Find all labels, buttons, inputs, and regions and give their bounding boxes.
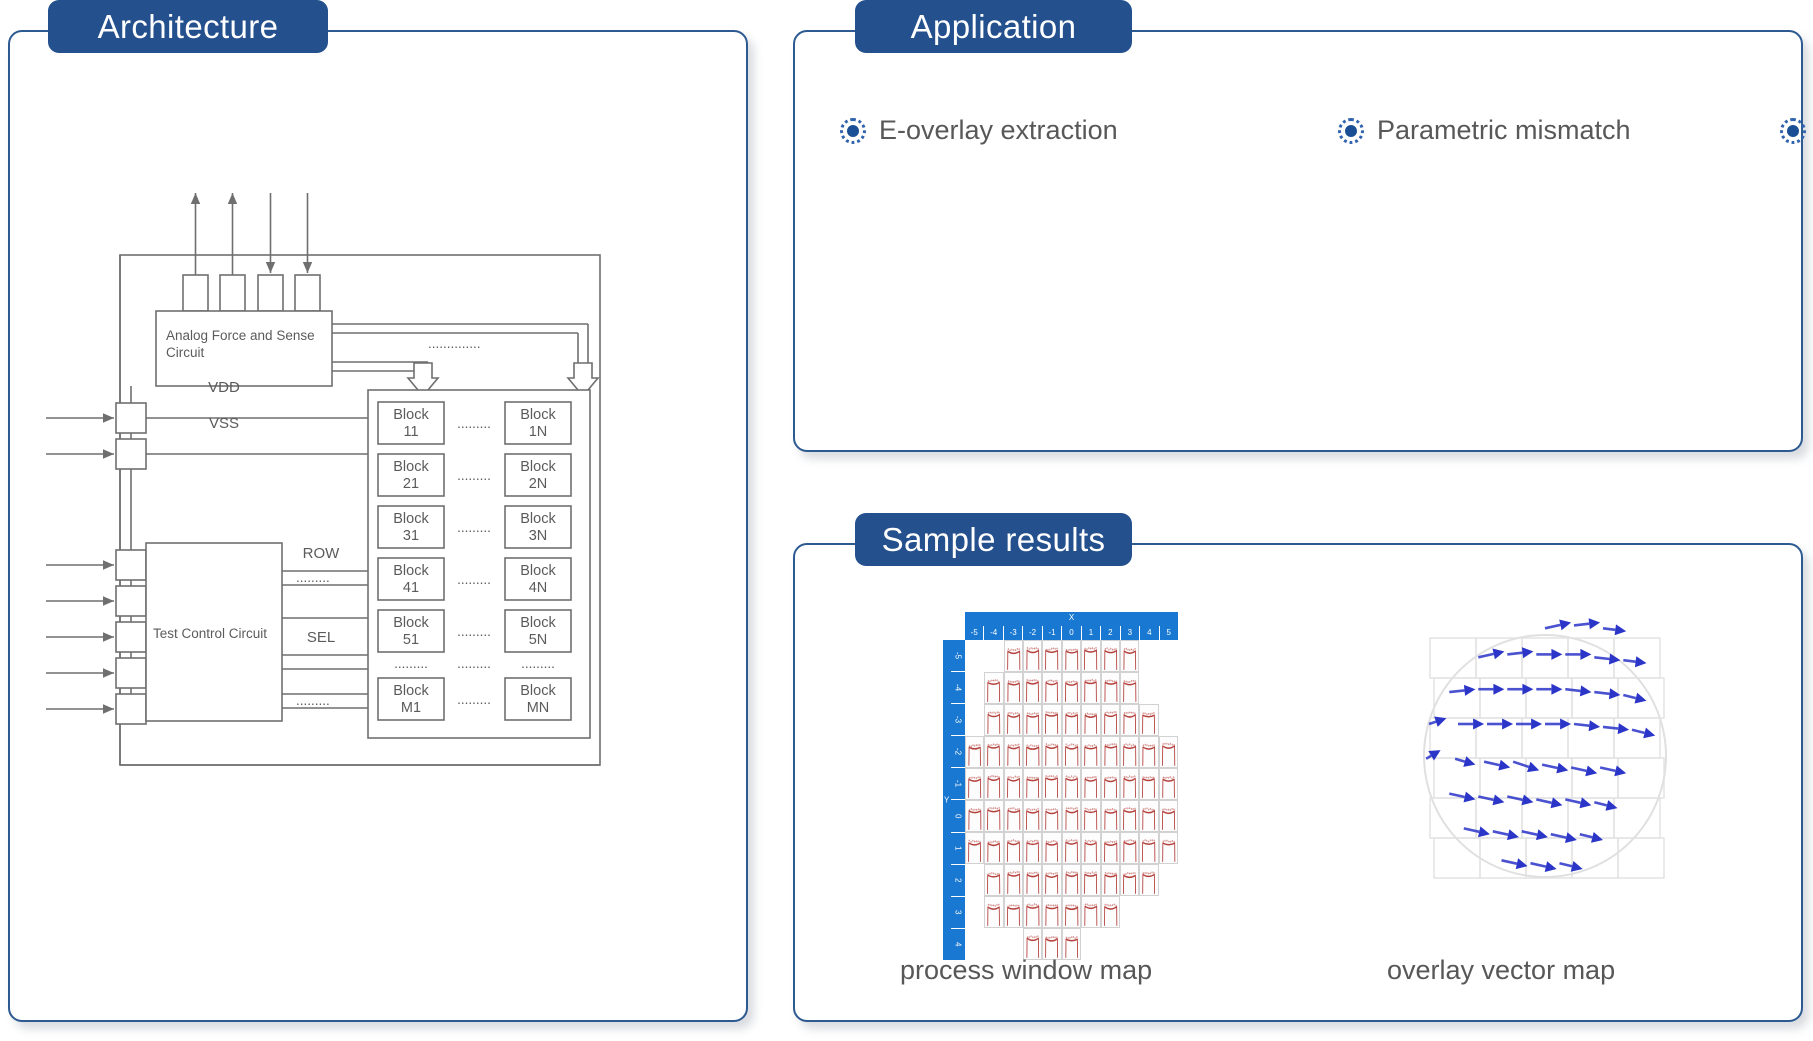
process-window-cell [1062, 864, 1081, 896]
x-tick: 1 [1081, 626, 1100, 640]
x-tick: -1 [1042, 626, 1061, 640]
application-item-label: Parametric mismatch [1377, 115, 1631, 146]
process-window-cell [984, 896, 1003, 928]
test-control-block-label: Test Control Circuit [153, 626, 267, 641]
block-label: Block [520, 683, 556, 699]
block-label: Block [393, 459, 429, 475]
process-window-cell [1139, 800, 1158, 832]
x-tick: -5 [965, 626, 983, 640]
process-window-cell [1004, 864, 1023, 896]
process-window-cell [1081, 864, 1100, 896]
block-col-ellipsis: ......... [457, 656, 491, 671]
application-item-label: E-overlay extraction [879, 115, 1118, 146]
block-label: Block [393, 511, 429, 527]
architecture-panel-title: Architecture [48, 0, 328, 53]
process-window-cell [984, 768, 1003, 800]
process-window-cell [1062, 832, 1081, 864]
process-window-cell [1139, 736, 1158, 768]
process-window-cell [1081, 800, 1100, 832]
process-window-map-caption: process window map [900, 955, 1152, 986]
process-window-cell [1004, 768, 1023, 800]
process-window-cell [1159, 832, 1178, 864]
process-window-cell-empty [984, 640, 1003, 672]
process-window-cell [1139, 704, 1158, 736]
x-tick: 0 [1061, 626, 1080, 640]
process-window-cell [965, 736, 984, 768]
process-window-cell [1042, 736, 1061, 768]
y-tick: 2 [951, 864, 965, 896]
process-window-cell [1062, 736, 1081, 768]
process-window-cell [1062, 640, 1081, 672]
process-window-cell [1120, 864, 1139, 896]
process-window-map[interactable]: X -5-4-3-2-1012345 Y -5-4-3-2-101234 [943, 612, 1178, 960]
process-window-cell [1042, 896, 1061, 928]
process-window-cell [1081, 704, 1100, 736]
process-window-cell-empty [1139, 672, 1158, 704]
process-window-cell [984, 736, 1003, 768]
block-label: MN [527, 700, 550, 716]
process-window-cell-empty [1139, 640, 1158, 672]
process-window-cell [1042, 832, 1061, 864]
block-label: Block [520, 615, 556, 631]
architecture-diagram: Analog Force and Sense Circuit Test Cont… [8, 30, 748, 1022]
block-row-ellipsis: ......... [457, 692, 491, 707]
block-label: Block [393, 563, 429, 579]
process-window-cell [1062, 896, 1081, 928]
y-tick: -3 [951, 703, 965, 735]
process-window-cell [1139, 768, 1158, 800]
application-item[interactable]: E-overlay extraction [840, 100, 1338, 161]
process-window-cell [1159, 768, 1178, 800]
block-label: Block [393, 407, 429, 423]
block-label: 1N [529, 424, 548, 440]
process-window-cell [1159, 800, 1178, 832]
y-tick: -4 [951, 671, 965, 703]
vdd-rail-label: VDD [208, 379, 240, 396]
block-label: Block [520, 459, 556, 475]
process-window-cell [965, 768, 984, 800]
process-window-cell [1004, 672, 1023, 704]
y-tick: 0 [951, 799, 965, 831]
process-window-cell-empty [1139, 896, 1158, 928]
block-row-ellipsis: ......... [457, 416, 491, 431]
process-window-cell-empty [1159, 672, 1178, 704]
target-dot-icon [840, 118, 866, 144]
sel-bus-ellipsis: ......... [296, 693, 330, 708]
process-window-cell [1101, 768, 1120, 800]
row-bus-ellipsis: ......... [296, 570, 330, 585]
process-window-cell [1042, 640, 1061, 672]
process-window-cell-empty [1159, 864, 1178, 896]
process-window-cell [965, 832, 984, 864]
block-label: Block [520, 407, 556, 423]
process-window-cell [1062, 672, 1081, 704]
process-window-cell-empty [965, 864, 984, 896]
process-window-cell [1081, 640, 1100, 672]
block-col-ellipsis: ......... [394, 656, 428, 671]
process-window-map-y-axis: Y -5-4-3-2-101234 [943, 640, 965, 960]
process-window-cell [984, 800, 1003, 832]
process-window-cell [1042, 800, 1061, 832]
block-label: Block [520, 511, 556, 527]
x-tick: 3 [1120, 626, 1139, 640]
process-window-cell [1023, 672, 1042, 704]
block-label: Block [393, 683, 429, 699]
process-window-map-grid [965, 640, 1178, 960]
process-window-cell [1023, 704, 1042, 736]
process-window-cell [1004, 896, 1023, 928]
x-tick: -4 [983, 626, 1002, 640]
process-window-cell [1101, 640, 1120, 672]
process-window-cell [1101, 704, 1120, 736]
process-window-cell [1004, 640, 1023, 672]
process-window-map-x-axis: X -5-4-3-2-1012345 [965, 612, 1178, 640]
y-axis-ticks: -5-4-3-2-101234 [951, 640, 965, 960]
process-window-cell [1081, 832, 1100, 864]
process-window-cell [1023, 768, 1042, 800]
process-window-map-corner [943, 612, 965, 624]
process-window-cell [1004, 736, 1023, 768]
process-window-cell-empty [1159, 704, 1178, 736]
process-window-cell [1120, 768, 1139, 800]
analog-bus-ellipsis: .............. [428, 336, 481, 351]
process-window-cell [1062, 800, 1081, 832]
process-window-cell [984, 704, 1003, 736]
row-line-label: ROW [303, 545, 341, 562]
process-window-cell [984, 832, 1003, 864]
process-window-cell-empty [965, 704, 984, 736]
block-label: 3N [529, 528, 548, 544]
process-window-cell-empty [965, 640, 984, 672]
process-window-cell [1042, 864, 1061, 896]
process-window-cell [1101, 672, 1120, 704]
target-dot-icon [1780, 118, 1806, 144]
y-tick: 3 [951, 896, 965, 928]
process-window-cell [1023, 832, 1042, 864]
application-item[interactable]: Basic device leakage outlier [1780, 100, 1813, 161]
process-window-cell [1023, 800, 1042, 832]
block-label: M1 [401, 700, 421, 716]
wafer-outline [1424, 635, 1666, 877]
analog-block-label-line2: Circuit [166, 345, 205, 360]
y-tick: 1 [951, 832, 965, 864]
analog-block-label-line1: Analog Force and Sense [166, 328, 315, 343]
process-window-cell [1120, 800, 1139, 832]
process-window-cell [1042, 704, 1061, 736]
block-label: 21 [403, 476, 419, 492]
overlay-vector-map-caption: overlay vector map [1387, 955, 1615, 986]
y-tick: -5 [951, 640, 965, 671]
process-window-cell [1120, 736, 1139, 768]
block-label: 5N [529, 632, 548, 648]
block-col-ellipsis: ......... [521, 656, 555, 671]
process-window-cell [1101, 864, 1120, 896]
block-label: 11 [403, 424, 418, 440]
x-axis-title: X [965, 613, 1178, 622]
slide-root: Architecture [0, 0, 1813, 1041]
sel-line-label: SEL [307, 629, 335, 646]
process-window-cell-empty [1159, 928, 1178, 960]
x-tick: 4 [1139, 626, 1158, 640]
sample-results-panel-title: Sample results [855, 513, 1132, 566]
process-window-cell [1139, 832, 1158, 864]
application-item[interactable]: Parametric mismatch [1338, 100, 1780, 161]
process-window-cell [1159, 736, 1178, 768]
process-window-cell [965, 800, 984, 832]
y-tick: -1 [951, 767, 965, 799]
block-label: 4N [529, 580, 548, 596]
x-axis-ticks: -5-4-3-2-1012345 [965, 626, 1178, 640]
process-window-cell [1023, 640, 1042, 672]
overlay-vectors [1426, 618, 1655, 872]
process-window-cell-empty [965, 896, 984, 928]
y-tick: -2 [951, 735, 965, 767]
block-label: 41 [403, 580, 419, 596]
process-window-cell-empty [1159, 896, 1178, 928]
process-window-cell [1023, 736, 1042, 768]
x-tick: -3 [1003, 626, 1022, 640]
process-window-cell [1120, 640, 1139, 672]
target-dot-icon [1338, 118, 1364, 144]
process-window-cell [984, 864, 1003, 896]
x-tick: 2 [1100, 626, 1119, 640]
block-label: Block [520, 563, 556, 579]
process-window-cell-empty [1159, 640, 1178, 672]
process-window-cell [1042, 672, 1061, 704]
y-axis-title: Y [944, 796, 949, 805]
vss-rail-label: VSS [209, 415, 239, 432]
application-panel-title: Application [855, 0, 1132, 53]
process-window-cell [1081, 768, 1100, 800]
process-window-cell [1120, 672, 1139, 704]
process-window-cell-empty [965, 672, 984, 704]
process-window-cell [1120, 832, 1139, 864]
process-window-cell [1004, 832, 1023, 864]
overlay-vector-map[interactable] [1400, 608, 1690, 898]
x-tick: 5 [1159, 626, 1178, 640]
process-window-cell [1081, 672, 1100, 704]
process-window-cell [1081, 736, 1100, 768]
process-window-cell [1139, 864, 1158, 896]
process-window-cell [1004, 800, 1023, 832]
process-window-cell [1004, 704, 1023, 736]
process-window-cell [1120, 704, 1139, 736]
process-window-cell [1101, 832, 1120, 864]
block-label: Block [393, 615, 429, 631]
process-window-cell [1023, 864, 1042, 896]
application-item-list: E-overlay extraction Parametric mismatch… [840, 100, 1780, 390]
process-window-cell [1101, 896, 1120, 928]
process-window-cell [1101, 736, 1120, 768]
block-row-ellipsis: ......... [457, 468, 491, 483]
block-label: 31 [403, 528, 419, 544]
process-window-cell [984, 672, 1003, 704]
block-label: 51 [403, 632, 419, 648]
block-row-ellipsis: ......... [457, 624, 491, 639]
process-window-cell [1081, 896, 1100, 928]
block-row-ellipsis: ......... [457, 572, 491, 587]
process-window-cell [1042, 768, 1061, 800]
process-window-cell [1101, 800, 1120, 832]
process-window-cell [1023, 896, 1042, 928]
process-window-cell [1062, 768, 1081, 800]
block-label: 2N [529, 476, 548, 492]
block-row-ellipsis: ......... [457, 520, 491, 535]
x-tick: -2 [1022, 626, 1041, 640]
process-window-cell [1062, 704, 1081, 736]
process-window-cell-empty [1120, 896, 1139, 928]
